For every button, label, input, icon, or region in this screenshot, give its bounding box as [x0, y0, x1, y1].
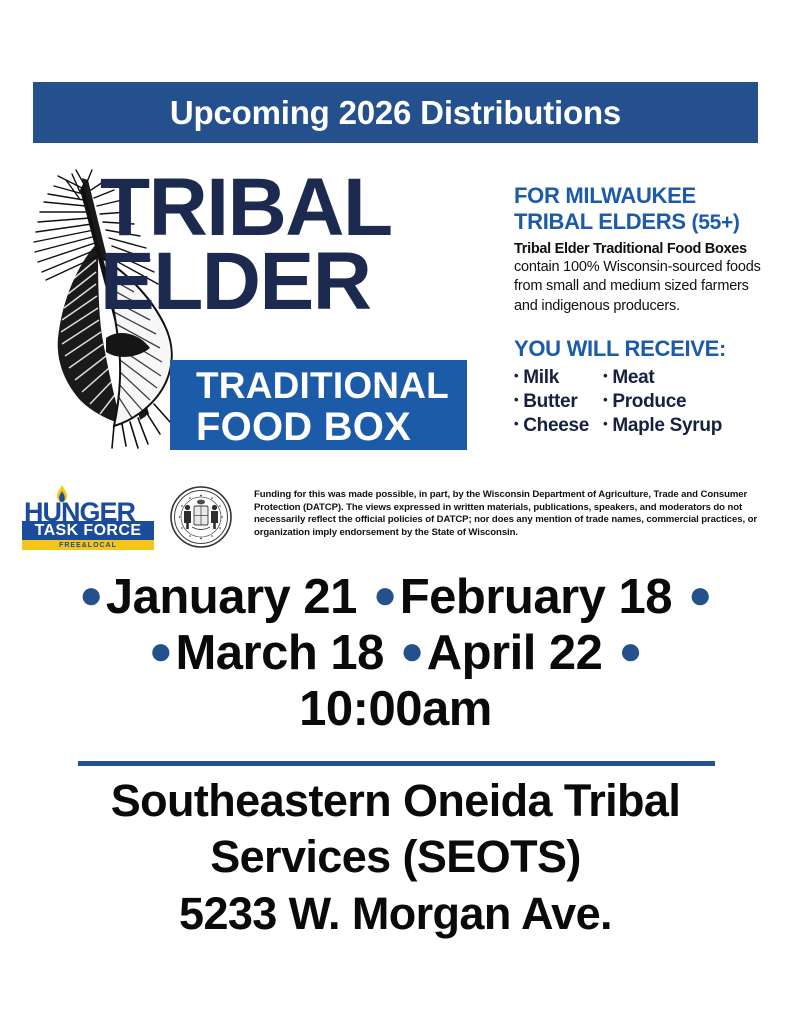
schedule-row-2: ●March 18 ●April 22 ●	[0, 626, 791, 682]
schedule-row-1: ●January 21 ●February 18 ●	[0, 570, 791, 626]
info-heading-age: (55+)	[692, 211, 740, 234]
info-heading-line1: FOR MILWAUKEE	[514, 183, 772, 209]
info-lead-text: Tribal Elder Traditional Food Boxes	[514, 240, 772, 259]
section-divider	[78, 761, 715, 766]
distribution-schedule: ●January 21 ●February 18 ● ●March 18 ●Ap…	[0, 570, 791, 738]
logo-wordmark: TRIBAL ELDER	[100, 172, 492, 318]
header-banner: Upcoming 2026 Distributions	[33, 82, 758, 143]
distribution-time: 10:00am	[0, 682, 791, 738]
bullet-icon: ●	[146, 629, 176, 673]
flame-icon	[55, 485, 69, 507]
htf-taskforce-bar: TASK FORCE	[22, 521, 154, 540]
bullet-icon: ●	[76, 573, 106, 617]
htf-tagline-text: FREE&LOCAL	[59, 542, 117, 549]
date-march: March 18	[175, 626, 383, 680]
receive-list-right: Meat Produce Maple Syrup	[603, 366, 722, 439]
venue-name-line1: Southeastern Oneida Tribal	[0, 773, 791, 829]
tribal-elder-logo: TRIBAL ELDER TRADITIONAL FOOD BOX	[22, 160, 492, 470]
list-item: Produce	[603, 390, 722, 414]
logo-text-elder: ELDER	[100, 246, 492, 318]
info-body-text: contain 100% Wisconsin-sourced foods fro…	[514, 258, 772, 315]
htf-taskforce-text: TASK FORCE	[35, 522, 142, 540]
wisconsin-datcp-seal-icon	[170, 486, 232, 548]
list-item: Butter	[514, 390, 589, 414]
funding-disclaimer: Funding for this was made possible, in p…	[254, 489, 766, 540]
receive-heading: YOU WILL RECEIVE:	[514, 336, 772, 362]
list-item: Cheese	[514, 414, 589, 438]
logo-text-tribal: TRIBAL	[100, 172, 492, 244]
bullet-icon: ●	[685, 573, 715, 617]
info-heading-line2: TRIBAL ELDERS (55+)	[514, 209, 772, 236]
list-item: Maple Syrup	[603, 414, 722, 438]
htf-tagline-bar: FREE&LOCAL	[22, 540, 154, 550]
date-april: April 22	[427, 626, 603, 680]
bullet-icon: ●	[370, 573, 400, 617]
logo-subtitle-box: TRADITIONAL FOOD BOX	[170, 360, 467, 450]
page-title: Upcoming 2026 Distributions	[170, 96, 621, 129]
receive-list: Milk Butter Cheese Meat Produce Maple Sy…	[514, 366, 772, 439]
date-february: February 18	[400, 570, 672, 624]
venue-block: Southeastern Oneida Tribal Services (SEO…	[0, 773, 791, 942]
bullet-icon: ●	[616, 629, 646, 673]
logo-text-traditional: TRADITIONAL	[196, 366, 461, 406]
hunger-task-force-logo: HUNGER TASK FORCE FREE&LOCAL	[22, 485, 154, 547]
venue-address: 5233 W. Morgan Ave.	[0, 886, 791, 942]
venue-name-line2: Services (SEOTS)	[0, 829, 791, 885]
receive-list-left: Milk Butter Cheese	[514, 366, 589, 439]
info-heading-elders: TRIBAL ELDERS	[514, 209, 686, 234]
list-item: Milk	[514, 366, 589, 390]
program-info: FOR MILWAUKEE TRIBAL ELDERS (55+) Tribal…	[514, 183, 772, 439]
partner-funding-row: HUNGER TASK FORCE FREE&LOCAL	[22, 483, 772, 555]
logo-text-food-box: FOOD BOX	[196, 406, 461, 449]
date-january: January 21	[106, 570, 357, 624]
list-item: Meat	[603, 366, 722, 390]
bullet-icon: ●	[397, 629, 427, 673]
